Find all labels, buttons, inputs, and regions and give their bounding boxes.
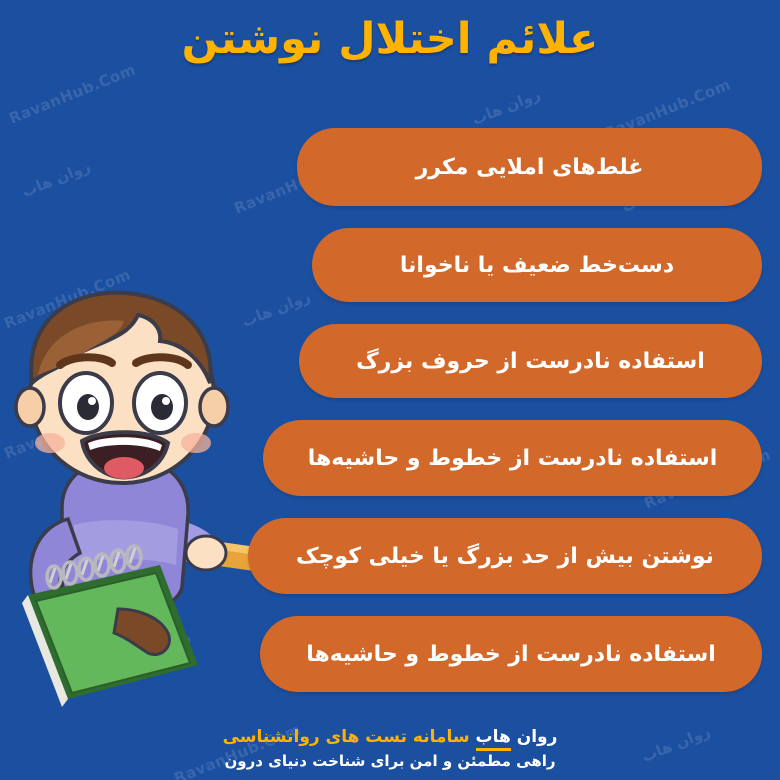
brand-line-primary: روان هاب سامانه تست های روانشناسی — [0, 725, 780, 750]
poster-canvas: RavanHub.Comروان هابRavanHub.Comروان هاب… — [0, 0, 780, 780]
symptom-item[interactable]: استفاده نادرست از حروف بزرگ — [299, 324, 762, 398]
symptom-item[interactable]: غلط‌های املایی مکرر — [297, 128, 762, 206]
symptom-item[interactable]: استفاده نادرست از خطوط و حاشیه‌ها — [260, 616, 762, 692]
symptom-item[interactable]: نوشتن بیش از حد بزرگ یا خیلی کوچک — [248, 518, 762, 594]
watermark-text: روان هاب — [469, 85, 543, 129]
watermark-text: RavanHub.Com — [7, 60, 139, 127]
symptom-label: دست‌خط ضعیف یا ناخوانا — [400, 253, 674, 278]
brand-name: روان — [517, 727, 558, 747]
symptom-item[interactable]: دست‌خط ضعیف یا ناخوانا — [312, 228, 762, 302]
symptom-label: غلط‌های املایی مکرر — [416, 155, 644, 180]
page-title: علائم اختلال نوشتن — [0, 14, 780, 66]
brand-hub: هاب — [476, 727, 511, 751]
symptom-label: استفاده نادرست از حروف بزرگ — [356, 349, 705, 374]
symptom-label: استفاده نادرست از خطوط و حاشیه‌ها — [306, 642, 716, 667]
symptom-item[interactable]: استفاده نادرست از خطوط و حاشیه‌ها — [263, 420, 762, 496]
symptom-list: غلط‌های املایی مکرر دست‌خط ضعیف یا ناخوا… — [20, 128, 762, 714]
brand-subtagline: راهی مطمئن و امن برای شناخت دنیای درون — [0, 750, 780, 773]
brand-footer: روان هاب سامانه تست های روانشناسی راهی م… — [0, 725, 780, 772]
brand-tagline: سامانه تست های روانشناسی — [223, 727, 470, 747]
symptom-label: نوشتن بیش از حد بزرگ یا خیلی کوچک — [296, 544, 714, 569]
symptom-label: استفاده نادرست از خطوط و حاشیه‌ها — [308, 446, 718, 471]
